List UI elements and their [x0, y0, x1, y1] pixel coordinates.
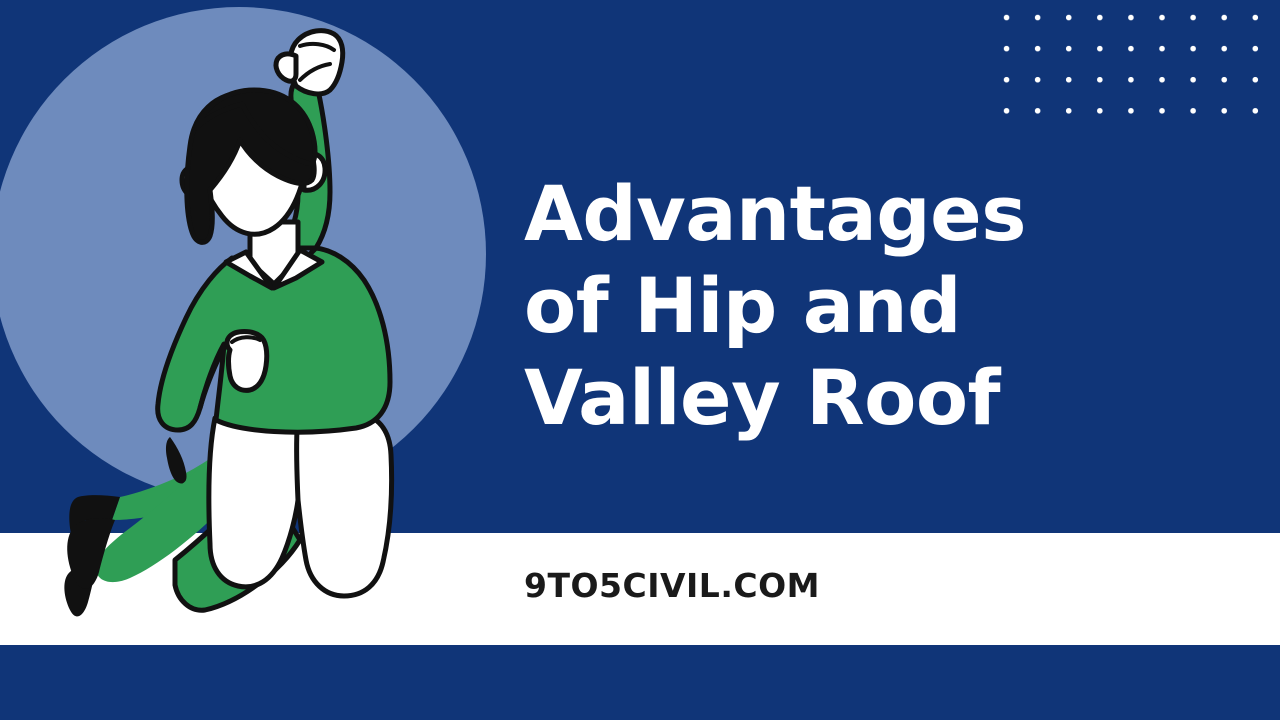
- site-url-label: 9TO5CIVIL.COM: [524, 567, 820, 605]
- background-band-bottom: [0, 645, 1280, 720]
- cheering-person-illustration: [0, 0, 500, 645]
- lowered-fist-icon: [227, 332, 267, 391]
- banner-canvas: Advantages of Hip and Valley Roof 9TO5CI…: [0, 0, 1280, 720]
- page-title: Advantages of Hip and Valley Roof: [524, 168, 1224, 444]
- black-shoe-back: [166, 437, 187, 484]
- white-shorts: [209, 409, 392, 596]
- dot-grid-pattern-icon: [991, 2, 1280, 114]
- raised-fist-icon: [276, 31, 343, 94]
